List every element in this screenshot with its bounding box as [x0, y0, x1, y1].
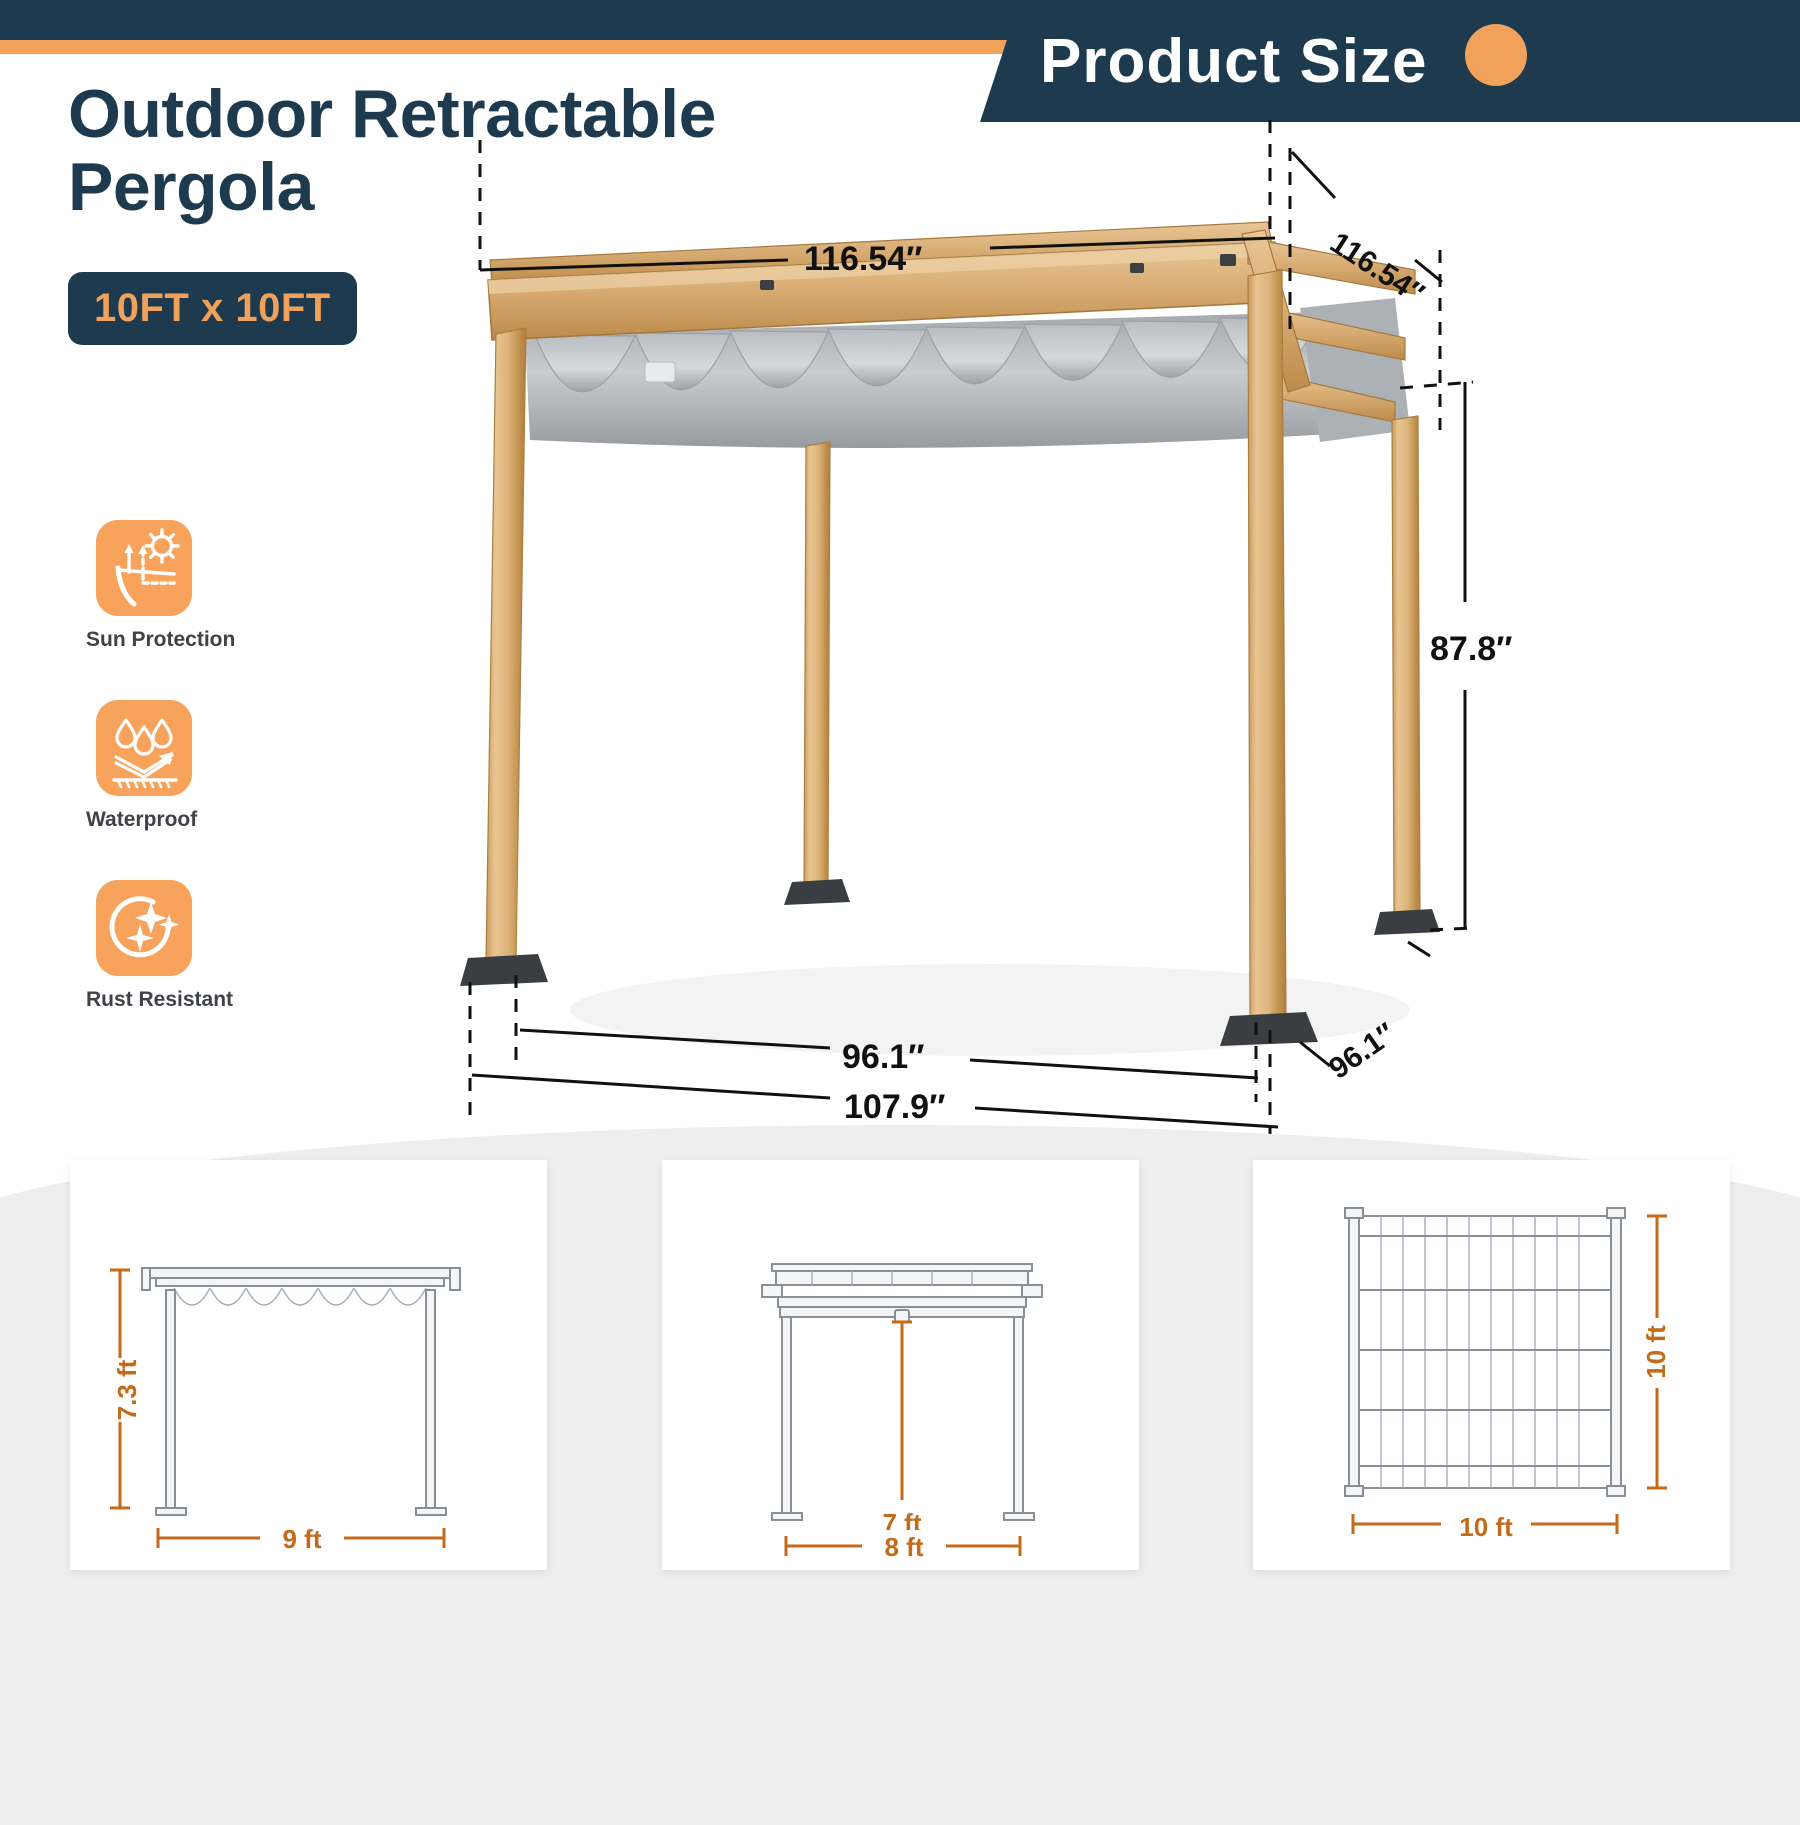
header-orange-rule [0, 40, 1020, 54]
feature-rust-resistant: Rust Resistant [86, 880, 326, 1012]
feature-label-waterproof: Waterproof [86, 808, 326, 832]
panel2-width-label: 8 ft [884, 1532, 923, 1562]
measure-width: 9 ft [158, 1520, 444, 1556]
measure-width: 8 ft [786, 1530, 1020, 1564]
feature-list: Sun Protection [86, 520, 326, 1060]
pergola-illustration: 116.54″ 116.54″ 87.8″ 96.1″ 107. [430, 130, 1510, 1090]
measure-height: 10 ft [1639, 1216, 1675, 1488]
orange-accent-dot [1465, 24, 1527, 86]
plan-view-drawing [1345, 1208, 1625, 1496]
measure-height: 7.3 ft [102, 1270, 142, 1508]
panel-side-elevation: 7 ft 8 ft [662, 1160, 1139, 1570]
feature-waterproof: Waterproof [86, 700, 326, 832]
panel3-height-label: 10 ft [1641, 1325, 1671, 1379]
feature-sun-protection: Sun Protection [86, 520, 326, 652]
panel3-width-label: 10 ft [1459, 1512, 1513, 1542]
panel-top-plan-view: 10 ft 10 ft [1253, 1160, 1730, 1570]
dim-base-outer: 107.9″ [844, 1088, 945, 1126]
sun-protection-icon [96, 520, 192, 616]
dim-base-inner: 96.1″ [842, 1038, 924, 1076]
measure-width: 10 ft [1353, 1508, 1617, 1544]
spec-panels: 7.3 ft 9 ft [70, 1160, 1730, 1760]
feature-label-rust-resistant: Rust Resistant [86, 988, 326, 1012]
rust-resistant-icon [96, 880, 192, 976]
waterproof-icon [96, 700, 192, 796]
panel-front-elevation: 7.3 ft 9 ft [70, 1160, 547, 1570]
panel1-height-label: 7.3 ft [112, 1359, 142, 1420]
panel1-width-label: 9 ft [283, 1524, 322, 1554]
product-size-title: Product Size [1040, 26, 1428, 97]
dim-top-width: 116.54″ [804, 240, 922, 278]
measure-height: 7 ft [870, 1322, 934, 1540]
front-elevation-drawing [142, 1268, 460, 1515]
feature-label-sun-protection: Sun Protection [86, 628, 326, 652]
dim-height: 87.8″ [1430, 630, 1512, 668]
product-photo-with-dimensions: 116.54″ 116.54″ 87.8″ 96.1″ 107. [430, 130, 1510, 1090]
size-badge: 10FT x 10FT [68, 272, 357, 345]
